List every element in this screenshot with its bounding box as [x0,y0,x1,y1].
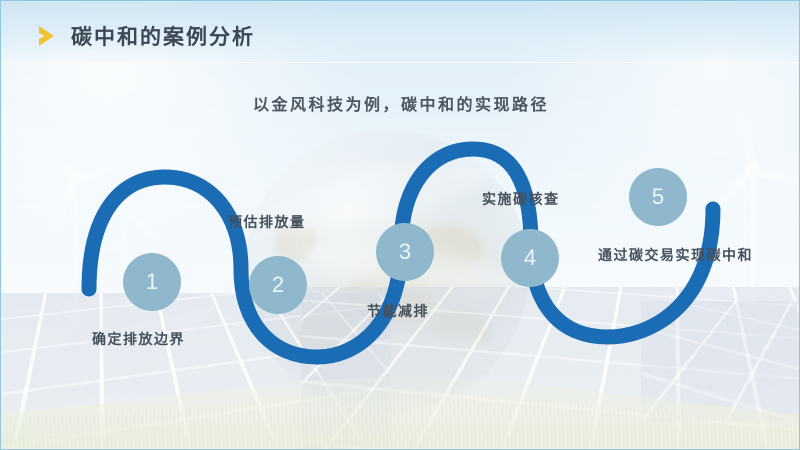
slide-canvas: 碳中和的案例分析 以金风科技为例，碳中和的实现路径 1 确定排放边界 2 预估排… [0,0,800,450]
step-circle-1[interactable]: 1 [123,253,181,311]
step-number-5: 5 [652,184,664,210]
step-number-1: 1 [146,269,158,295]
step-label-2: 预估排放量 [228,212,306,232]
step-label-3: 节能减排 [367,301,429,321]
step-circle-2[interactable]: 2 [249,256,307,314]
step-circle-4[interactable]: 4 [501,229,559,287]
step-label-1: 确定排放边界 [92,329,185,349]
step-circle-3[interactable]: 3 [376,223,434,281]
step-circle-5[interactable]: 5 [629,168,687,226]
step-number-4: 4 [524,245,536,271]
step-label-5: 通过碳交易实现碳中和 [598,245,753,265]
step-number-3: 3 [399,239,411,265]
step-number-2: 2 [272,272,284,298]
step-label-4: 实施碳核查 [482,189,560,209]
